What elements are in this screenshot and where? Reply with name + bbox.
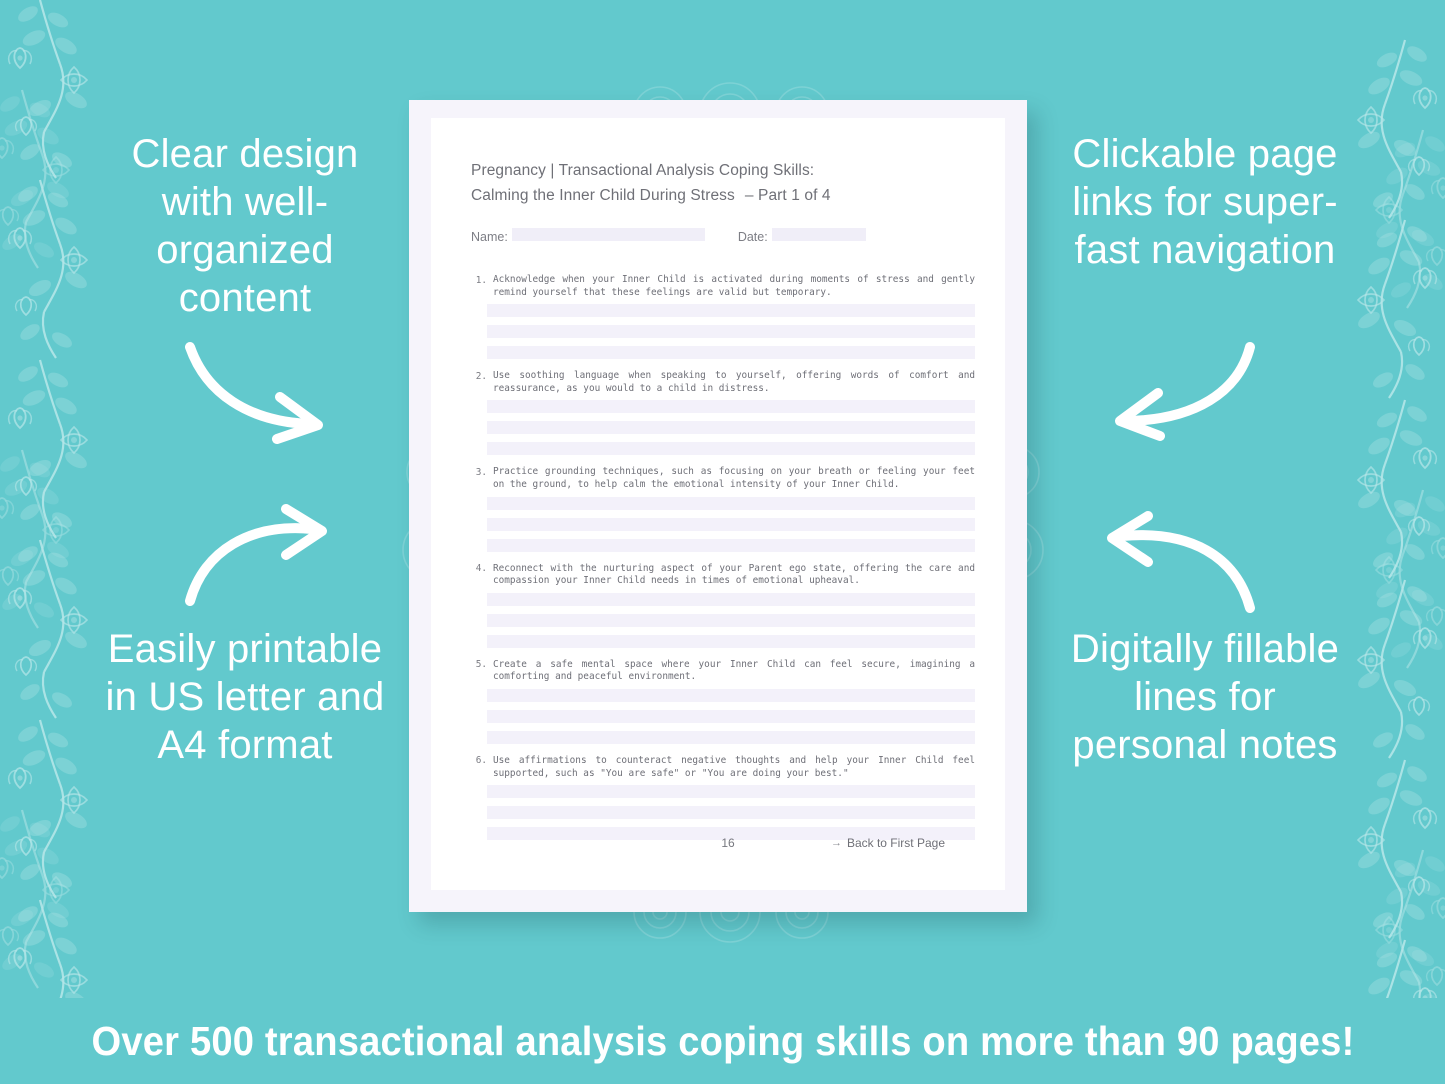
fillable-lines-group (487, 593, 975, 648)
name-date-row: Name: Date: (471, 228, 975, 246)
fillable-line[interactable] (487, 325, 975, 338)
fillable-line[interactable] (487, 635, 975, 648)
arrow-curved-up-left-icon (1090, 508, 1270, 628)
worksheet-footer: 16 → Back to First Page (511, 836, 945, 850)
name-label: Name: (471, 230, 508, 244)
fillable-line[interactable] (487, 731, 975, 744)
list-item: 1.Acknowledge when your Inner Child is a… (471, 274, 975, 359)
list-item: 5.Create a safe mental space where your … (471, 659, 975, 744)
fillable-line[interactable] (487, 614, 975, 627)
fillable-line[interactable] (487, 400, 975, 413)
fillable-line[interactable] (487, 785, 975, 798)
fillable-line[interactable] (487, 421, 975, 434)
poster-stage: Clear design with well-organized content… (0, 0, 1445, 1084)
list-item-text: Practice grounding techniques, such as f… (493, 466, 975, 491)
list-item-text: Use affirmations to counteract negative … (493, 755, 975, 780)
name-input[interactable] (512, 228, 705, 241)
list-item-row: 3.Practice grounding techniques, such as… (471, 466, 975, 491)
list-item-text: Acknowledge when your Inner Child is act… (493, 274, 975, 299)
bottom-banner: Over 500 transactional analysis coping s… (0, 998, 1445, 1084)
fillable-lines-group (487, 497, 975, 552)
fillable-line[interactable] (487, 442, 975, 455)
fillable-line[interactable] (487, 497, 975, 510)
fillable-lines-group (487, 400, 975, 455)
worksheet-title-line2: Calming the Inner Child During Stress (471, 187, 735, 204)
page-number: 16 (721, 836, 734, 850)
worksheet-part-label: – Part 1 of 4 (745, 187, 831, 204)
arrow-curved-down-left-icon (1098, 333, 1268, 448)
list-item-number: 3. (471, 466, 493, 479)
list-item: 3.Practice grounding techniques, such as… (471, 466, 975, 551)
list-item-number: 1. (471, 274, 493, 287)
list-item: 4.Reconnect with the nurturing aspect of… (471, 563, 975, 648)
list-item-number: 5. (471, 659, 493, 672)
list-item-text: Use soothing language when speaking to y… (493, 370, 975, 395)
list-item-text: Create a safe mental space where your In… (493, 659, 975, 684)
date-input[interactable] (772, 228, 866, 241)
fillable-line[interactable] (487, 806, 975, 819)
list-item-row: 2.Use soothing language when speaking to… (471, 370, 975, 395)
fillable-lines-group (487, 785, 975, 840)
worksheet-page-inner: Pregnancy | Transactional Analysis Copin… (431, 118, 1005, 890)
callout-clickable-links: Clickable page links for super-fast navi… (1055, 130, 1355, 274)
fillable-lines-group (487, 689, 975, 744)
list-item-number: 2. (471, 370, 493, 383)
fillable-line[interactable] (487, 710, 975, 723)
callout-clear-design: Clear design with well-organized content (95, 130, 395, 322)
callout-fillable-lines: Digitally fillable lines for personal no… (1055, 625, 1355, 769)
fillable-lines-group (487, 304, 975, 359)
worksheet-sheet: Pregnancy | Transactional Analysis Copin… (471, 158, 975, 872)
list-item-row: 1.Acknowledge when your Inner Child is a… (471, 274, 975, 299)
list-item-row: 4.Reconnect with the nurturing aspect of… (471, 563, 975, 588)
bottom-banner-text: Over 500 transactional analysis coping s… (91, 1018, 1354, 1065)
fillable-line[interactable] (487, 593, 975, 606)
worksheet-title-line1: Pregnancy | Transactional Analysis Copin… (471, 162, 814, 179)
list-item: 2.Use soothing language when speaking to… (471, 370, 975, 455)
list-item-row: 6.Use affirmations to counteract negativ… (471, 755, 975, 780)
worksheet-title: Pregnancy | Transactional Analysis Copin… (471, 158, 975, 208)
list-item-row: 5.Create a safe mental space where your … (471, 659, 975, 684)
back-to-first-page-label: Back to First Page (847, 836, 945, 850)
list-item-text: Reconnect with the nurturing aspect of y… (493, 563, 975, 588)
arrow-curved-down-right-icon (176, 335, 346, 450)
fillable-line[interactable] (487, 304, 975, 317)
fillable-line[interactable] (487, 539, 975, 552)
arrow-curved-up-right-icon (176, 503, 346, 618)
date-field-group: Date: (738, 228, 866, 246)
list-item: 6.Use affirmations to counteract negativ… (471, 755, 975, 840)
list-item-number: 6. (471, 755, 493, 768)
coping-skill-list: 1.Acknowledge when your Inner Child is a… (471, 274, 975, 840)
date-label: Date: (738, 230, 768, 244)
list-item-number: 4. (471, 563, 493, 576)
fillable-line[interactable] (487, 346, 975, 359)
callout-easily-printable: Easily printable in US letter and A4 for… (95, 625, 395, 769)
back-to-first-page-link[interactable]: → Back to First Page (831, 836, 945, 850)
name-field-group: Name: (471, 228, 705, 246)
fillable-line[interactable] (487, 689, 975, 702)
fillable-line[interactable] (487, 518, 975, 531)
right-arrow-icon: → (831, 838, 842, 849)
worksheet-page-card: Pregnancy | Transactional Analysis Copin… (409, 100, 1027, 912)
worksheet-title-line2-wrap: Calming the Inner Child During Stress– P… (471, 183, 975, 208)
